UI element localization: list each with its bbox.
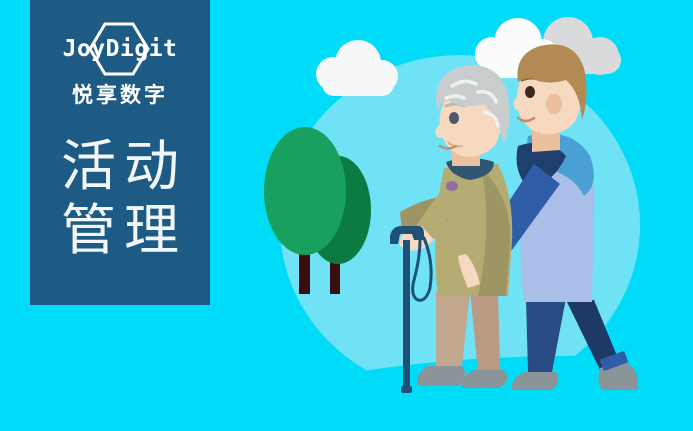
company-name-cn: 悦享数字 (72, 82, 168, 108)
young-man-eye (525, 86, 535, 98)
logo-block: JoyDigit (40, 26, 200, 72)
page-title: 活动 管理 (53, 134, 187, 262)
cane-tip (401, 386, 412, 393)
page-title-line-1: 活动 (53, 134, 187, 198)
poster-canvas: JoyDigit 悦享数字 活动 管理 (0, 0, 693, 431)
cane-shaft (403, 240, 410, 390)
elderly-front-shoe (417, 366, 465, 386)
page-title-line-2: 管理 (53, 198, 187, 262)
young-man-ear (546, 94, 562, 114)
elderly-brooch (446, 181, 458, 191)
elderly-eye (449, 112, 459, 124)
logo-wordmark: JoyDigit (40, 36, 200, 62)
brand-panel: JoyDigit 悦享数字 活动 管理 (30, 0, 210, 305)
